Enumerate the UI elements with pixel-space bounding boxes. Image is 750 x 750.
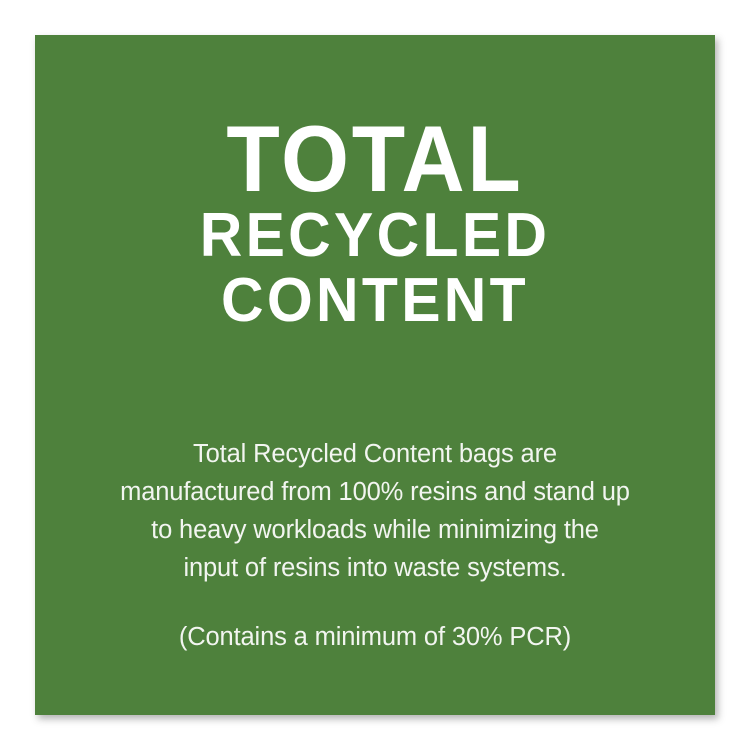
pcr-content-note: (Contains a minimum of 30% PCR) [69,618,681,656]
description-line: manufactured from 100% resins and stand … [69,473,681,511]
description-line: input of resins into waste systems. [69,549,681,587]
description-line: Total Recycled Content bags are [69,435,681,473]
product-info-card: TOTAL RECYCLED CONTENT Total Recycled Co… [0,0,750,750]
headline-line-content: CONTENT [52,268,698,334]
green-panel: TOTAL RECYCLED CONTENT Total Recycled Co… [35,35,715,715]
description-text: Total Recycled Content bags are manufact… [69,435,681,587]
description-line: to heavy workloads while minimizing the [69,511,681,549]
page-title: TOTAL RECYCLED CONTENT [35,113,715,334]
headline-line-recycled: RECYCLED [52,203,698,269]
headline-line-total: TOTAL [59,113,691,205]
